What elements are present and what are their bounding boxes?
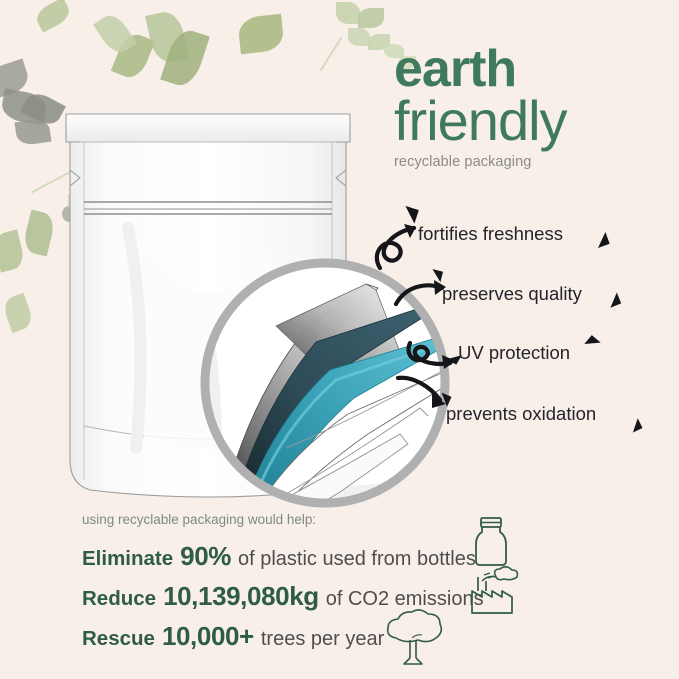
feature-label-prevents-oxidation: prevents oxidation [446,403,596,425]
stat-row-reduce: Reduce 10,139,080kg of CO2 emissions [82,581,602,621]
headline-line-friendly: friendly [394,92,664,150]
stat-tail-eliminate: of plastic used from bottles [238,548,476,571]
tick-mark-icon-1b: ◢ [594,230,610,248]
tick-mark-icon-3b: ◤ [585,333,602,351]
factory-icon [466,565,520,617]
stats-intro-text: using recyclable packaging would help: [82,512,602,527]
headline-line-earth: earth [394,46,664,92]
tick-mark-icon-1a: ◥ [402,203,420,223]
headline-block: earth friendly recyclable packaging [394,46,664,170]
tree-icon [378,608,450,670]
stat-number-eliminate: 90% [180,541,231,572]
stat-row-eliminate: Eliminate 90% of plastic used from bottl… [82,541,602,581]
stat-verb-eliminate: Eliminate [82,547,173,571]
tick-mark-icon-4b: ◢ [628,416,643,432]
feature-label-fortifies-freshness: fortifies freshness [418,223,563,245]
stat-verb-reduce: Reduce [82,587,156,611]
stats-block: using recyclable packaging would help: E… [82,512,602,661]
headline-subtitle: recyclable packaging [394,154,664,170]
tick-mark-icon-2b: ◢ [606,290,621,307]
stat-verb-rescue: Rescue [82,627,155,651]
stat-number-reduce: 10,139,080kg [163,581,319,612]
feature-label-preserves-quality: preserves quality [442,283,582,305]
poster-canvas: fortifies freshness ◥ ◢ preserves qualit… [0,0,679,679]
stat-row-rescue: Rescue 10,000+ trees per year [82,621,602,661]
feature-label-uv-protection: UV protection [458,342,570,364]
stat-tail-rescue: trees per year [261,628,384,651]
stat-number-rescue: 10,000+ [162,621,254,652]
bottle-icon [470,516,512,568]
